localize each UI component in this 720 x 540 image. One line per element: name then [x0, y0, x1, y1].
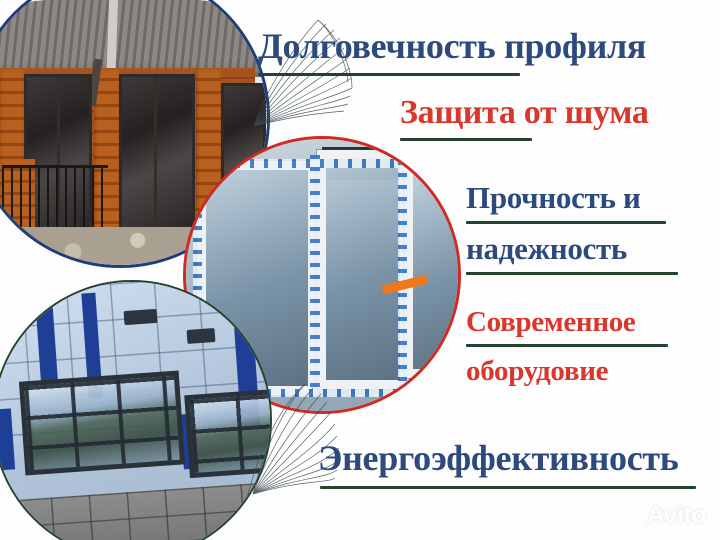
- veka-branded-tape: [310, 155, 320, 389]
- glazing-grid: [190, 395, 272, 473]
- facade-vent: [187, 328, 215, 344]
- veka-branded-tape: [398, 161, 407, 384]
- slogan-strength-line1: Прочность и: [466, 182, 641, 214]
- veka-branded-tape: [194, 159, 412, 168]
- pvc-window-frame: [317, 150, 409, 389]
- slogan-durability: Долговечность профиля: [258, 28, 646, 65]
- glazing-grid: [24, 376, 180, 470]
- slogan-underline: [258, 73, 520, 76]
- balcony-railing: [2, 165, 108, 230]
- slogan-underline: [320, 486, 696, 489]
- poster-canvas: Долговечность профиля Защита от шума Про…: [0, 0, 720, 540]
- slogan-underline: [466, 272, 678, 275]
- facade-scene: [0, 282, 270, 540]
- granite-plinth: [0, 481, 272, 540]
- slogan-modern-equipment-line2: оборудовие: [466, 356, 608, 386]
- avito-dots-icon: [616, 505, 642, 527]
- slogan-energy-efficiency: Энергоэффективность: [318, 440, 679, 477]
- avito-watermark: Avito: [616, 501, 706, 530]
- house-window: [119, 74, 195, 230]
- photo-building-facade: [0, 280, 272, 540]
- window-mullion: [154, 77, 157, 227]
- slogan-underline: [400, 138, 532, 141]
- storefront-glazing: [184, 389, 272, 478]
- slogan-modern-equipment-line1: Современное: [466, 307, 636, 337]
- avito-label: Avito: [647, 501, 706, 530]
- facade-vent: [123, 308, 157, 324]
- slogan-underline: [466, 221, 666, 224]
- slogan-underline: [466, 344, 668, 347]
- slogan-strength-line2: надежность: [466, 233, 627, 265]
- tiled-roof: [0, 0, 270, 77]
- storefront-glazing: [19, 370, 185, 475]
- slogan-noise-protection: Защита от шума: [400, 95, 649, 130]
- pvc-window-frame: [404, 166, 461, 378]
